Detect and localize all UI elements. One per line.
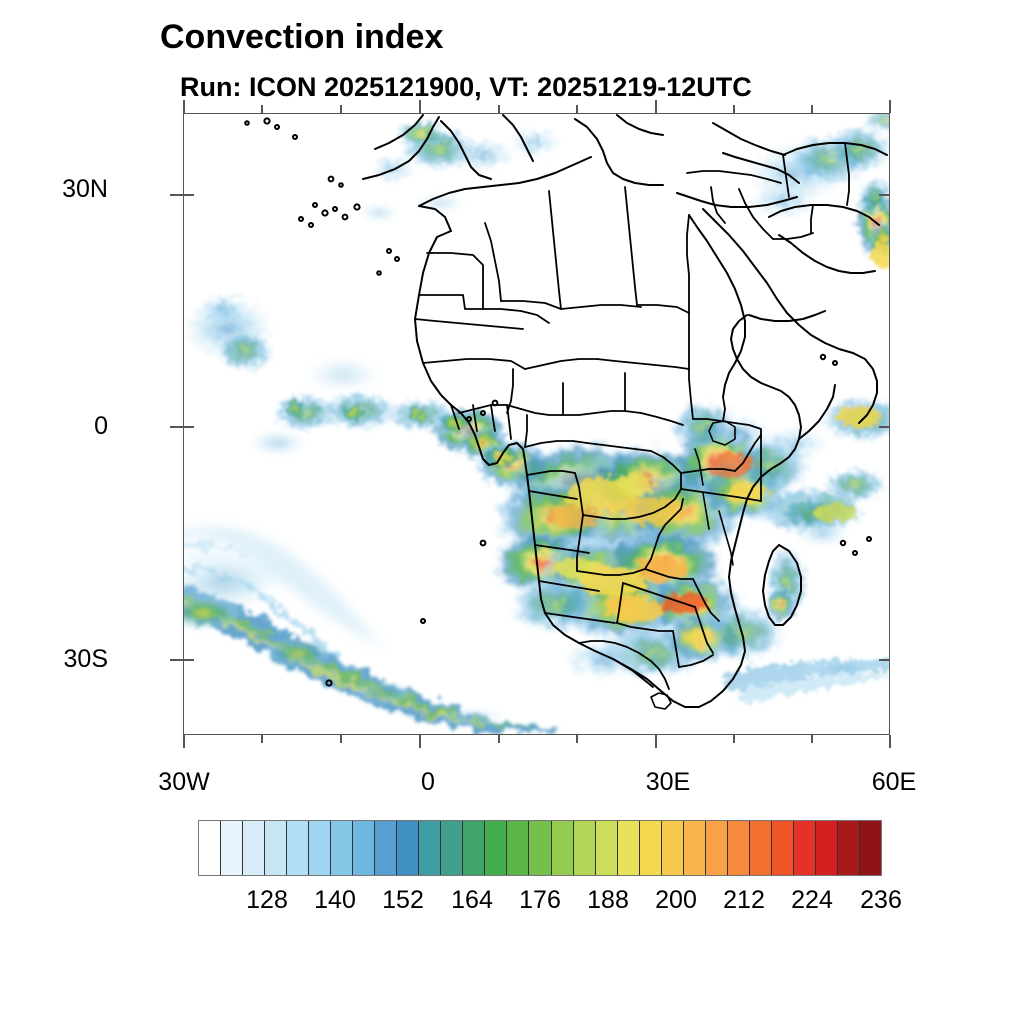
x-tick-top-minor-4 <box>576 105 578 113</box>
colorbar-cell-10 <box>419 821 441 875</box>
x-tick-30e <box>655 735 657 748</box>
x-axis-label-60e: 60E <box>834 768 954 797</box>
x-tick-60e <box>889 735 891 748</box>
y-axis-label-30s: 30S <box>18 645 108 674</box>
y-tick-0-inner <box>183 426 194 428</box>
x-tick-top-minor-6 <box>811 105 813 113</box>
colorbar-cell-5 <box>309 821 331 875</box>
map-svg <box>183 113 890 735</box>
colorbar-cell-19 <box>618 821 640 875</box>
x-tick-minor-6 <box>811 735 813 743</box>
colorbar-cell-29 <box>838 821 860 875</box>
y-tick-right-30s <box>879 659 890 661</box>
y-tick-30s <box>170 659 183 661</box>
x-tick-minor-3 <box>498 735 500 743</box>
x-tick-top-30w <box>183 100 185 113</box>
colorbar-cell-22 <box>684 821 706 875</box>
colorbar-cell-30 <box>860 821 881 875</box>
x-tick-top-minor-3 <box>498 105 500 113</box>
x-tick-minor-5 <box>733 735 735 743</box>
y-tick-0 <box>170 426 183 428</box>
map-plot-area[interactable] <box>183 113 890 735</box>
colorbar-label-236: 236 <box>836 886 926 915</box>
y-tick-right-30n <box>879 194 890 196</box>
run-valid-time-subtitle: Run: ICON 2025121900, VT: 20251219-12UTC <box>180 72 752 103</box>
colorbar-cell-0 <box>199 821 221 875</box>
x-axis-label-30w: 30W <box>124 768 244 797</box>
colorbar-cell-13 <box>485 821 507 875</box>
x-tick-top-minor-1 <box>261 105 263 113</box>
colorbar-cell-4 <box>287 821 309 875</box>
colorbar-cell-2 <box>243 821 265 875</box>
x-tick-top-minor-2 <box>340 105 342 113</box>
colorbar-cell-8 <box>375 821 397 875</box>
colorbar-cell-12 <box>463 821 485 875</box>
colorbar-cell-25 <box>750 821 772 875</box>
x-axis-label-0: 0 <box>368 768 488 797</box>
colorbar-cell-7 <box>353 821 375 875</box>
colorbar-cell-21 <box>662 821 684 875</box>
x-tick-top-60e <box>889 100 891 113</box>
x-tick-top-0 <box>419 100 421 113</box>
x-tick-0 <box>419 735 421 748</box>
colorbar-cell-18 <box>596 821 618 875</box>
x-tick-minor-4 <box>576 735 578 743</box>
page-title: Convection index <box>160 18 443 57</box>
colorbar-cell-20 <box>640 821 662 875</box>
x-tick-top-minor-5 <box>733 105 735 113</box>
colorbar-cell-16 <box>552 821 574 875</box>
colorbar-cell-24 <box>728 821 750 875</box>
x-tick-minor-1 <box>261 735 263 743</box>
colorbar-cell-14 <box>507 821 529 875</box>
y-tick-30s-inner <box>183 659 194 661</box>
colorbar-cell-3 <box>265 821 287 875</box>
colorbar-cell-23 <box>706 821 728 875</box>
colorbar-cell-28 <box>816 821 838 875</box>
y-tick-30n-inner <box>183 194 194 196</box>
x-axis-label-30e: 30E <box>608 768 728 797</box>
x-tick-minor-2 <box>340 735 342 743</box>
colorbar-cell-11 <box>441 821 463 875</box>
colorbar-cell-1 <box>221 821 243 875</box>
y-tick-30n <box>170 194 183 196</box>
figure-canvas: Convection index Run: ICON 2025121900, V… <box>0 0 1024 1024</box>
x-tick-top-30e <box>655 100 657 113</box>
colorbar-cell-17 <box>574 821 596 875</box>
colorbar-cell-15 <box>529 821 551 875</box>
colorbar[interactable] <box>198 820 882 876</box>
y-axis-label-30n: 30N <box>18 175 108 204</box>
y-axis-label-0: 0 <box>18 412 108 441</box>
colorbar-cell-27 <box>794 821 816 875</box>
y-tick-right-0 <box>879 426 890 428</box>
colorbar-cell-26 <box>772 821 794 875</box>
colorbar-cell-9 <box>397 821 419 875</box>
colorbar-cell-6 <box>331 821 353 875</box>
x-tick-30w <box>183 735 185 748</box>
